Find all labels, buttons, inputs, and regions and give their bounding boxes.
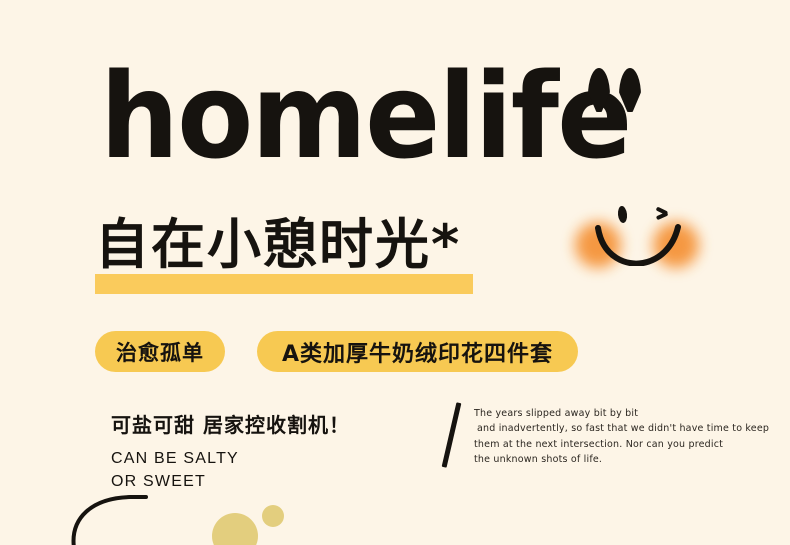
promo-banner: homelife 自在小憩时光* 治愈孤单 A类加厚牛奶绒印花四件套 可盐可甜 … [0,0,790,545]
smile-mouth-icon [595,224,681,266]
double-quote-icon [588,68,641,112]
quote-paragraph-line-1: The years slipped away bit by bit [474,406,714,421]
quote-paragraph: The years slipped away bit by bit and in… [474,406,714,468]
hand-drawn-arc-icon [60,488,165,545]
quote-glyph-right [619,68,641,112]
winking-smiley-icon [573,196,701,282]
tagline-cn-text: 可盐可甜 居家控收割机！ [111,409,350,438]
quote-paragraph-line-2: and inadvertently, so fast that we didn'… [474,421,714,436]
eye-left-icon [617,206,628,224]
quote-paragraph-line-3: them at the next intersection. Nor can y… [474,437,714,452]
tag-pill-healing[interactable]: 治愈孤单 [95,331,225,372]
quote-paragraph-line-4: the unknown shots of life. [474,452,714,467]
quote-glyph-left [588,68,610,112]
brand-wordmark: homelife [100,62,664,171]
headline: 自在小憩时光* [95,218,461,272]
decorative-circle-large [212,513,258,545]
diagonal-slash-icon [442,402,462,467]
tagline-en-line-1: CAN BE SALTY [111,447,350,470]
tag-pill-row: 治愈孤单 A类加厚牛奶绒印花四件套 [95,331,578,372]
brand-wordmark-text: homelife [100,62,630,171]
tag-pill-product[interactable]: A类加厚牛奶绒印花四件套 [257,331,578,372]
headline-highlight-bar [95,274,473,294]
decorative-circle-small [262,505,284,527]
eye-right-wink-icon [655,208,672,219]
headline-text: 自在小憩时光* [95,218,461,272]
tagline-block: 可盐可甜 居家控收割机！ CAN BE SALTY OR SWEET [111,409,350,493]
tagline-en-text: CAN BE SALTY OR SWEET [111,447,350,493]
